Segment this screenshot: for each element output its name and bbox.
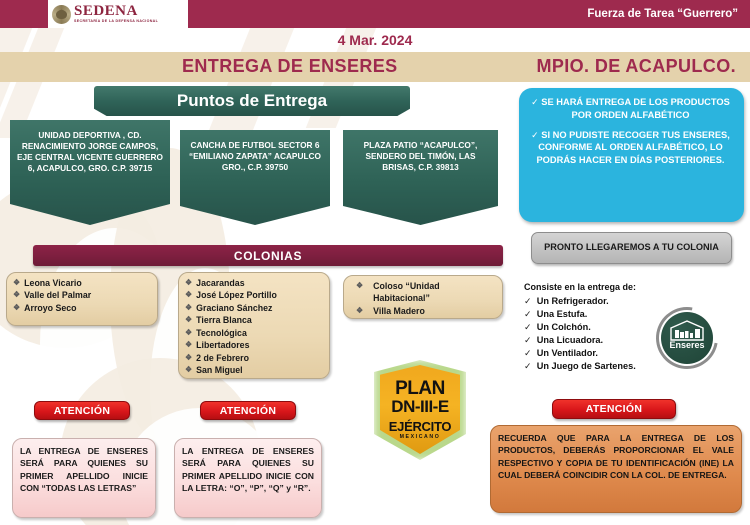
enseres-item: Un Ventilador. — [537, 347, 598, 360]
list-item: ❖Valle del Palmar — [13, 289, 151, 301]
colonia-name: José López Portillo — [196, 289, 277, 301]
colonias-column-3: ❖Coloso “Unidad Habitacional” ❖Villa Mad… — [343, 275, 503, 319]
enseres-item: Una Licuadora. — [537, 334, 603, 347]
colonia-name: Tecnológica — [196, 327, 247, 339]
emblem-line-1: PLAN — [395, 379, 445, 398]
colonia-name: Arroyo Seco — [24, 302, 76, 314]
list-item: ❖Tierra Blanca — [185, 314, 323, 326]
colonia-name: 2 de Febrero — [196, 352, 249, 364]
warning-body-3: RECUERDA QUE PARA LA ENTREGA DE LOS PROD… — [490, 425, 742, 513]
colonias-column-2: ❖Jacarandas ❖José López Portillo ❖Gracia… — [178, 272, 330, 379]
enseres-item: Un Colchón. — [537, 321, 591, 334]
diamond-bullet-icon: ❖ — [185, 314, 192, 326]
warning-tag-2: ATENCIÓN — [200, 401, 296, 420]
diamond-bullet-icon: ❖ — [185, 339, 192, 351]
emblem-line-4: MEXICANO — [400, 434, 441, 440]
enseres-item: Un Juego de Sartenes. — [537, 360, 636, 373]
colonia-name: Libertadores — [196, 339, 249, 351]
delivery-points-header: Puntos de Entrega — [94, 86, 410, 116]
list-item: ❖Arroyo Seco — [13, 302, 151, 314]
list-item: ❖Graciano Sánchez — [185, 302, 323, 314]
diamond-bullet-icon: ❖ — [185, 352, 192, 364]
list-item: ❖Villa Madero — [356, 305, 496, 317]
date-label: 4 Mar. 2024 — [0, 32, 750, 48]
warning-body-1: LA ENTREGA DE ENSERES SERÁ PARA QUIENES … — [12, 438, 156, 518]
diamond-bullet-icon: ❖ — [185, 364, 192, 376]
title-band: ENTREGA DE ENSERES MPIO. DE ACAPULCO. — [0, 52, 750, 82]
colonia-name: Coloso “Unidad Habitacional” — [373, 280, 496, 305]
list-item: ❖José López Portillo — [185, 289, 323, 301]
page-title: ENTREGA DE ENSERES — [182, 56, 398, 77]
colonias-header: COLONIAS — [33, 245, 503, 266]
colonia-name: Leona Vicario — [24, 277, 82, 289]
check-icon: ✓ — [531, 130, 539, 140]
emblem-line-3: EJÉRCITO — [389, 420, 451, 433]
notice-item-2-text: SI NO PUDISTE RECOGER TUS ENSERES, CONFO… — [536, 130, 729, 165]
enseres-badge: Enseres — [656, 307, 718, 369]
warning-tag-3: ATENCIÓN — [552, 399, 676, 419]
diamond-bullet-icon: ❖ — [356, 280, 363, 305]
alphabetical-order-notice: ✓ SE HARÁ ENTREGA DE LOS PRODUCTOS POR O… — [519, 88, 744, 222]
warning-body-2: LA ENTREGA DE ENSERES SERÁ PARA QUIENES … — [174, 438, 322, 518]
list-item: ❖Coloso “Unidad Habitacional” — [356, 280, 496, 305]
notice-item-1: ✓ SE HARÁ ENTREGA DE LOS PRODUCTOS POR O… — [527, 96, 734, 121]
enseres-item: Una Estufa. — [537, 308, 588, 321]
colonia-name: San Miguel — [196, 364, 242, 376]
diamond-bullet-icon: ❖ — [185, 289, 192, 301]
check-icon: ✓ — [524, 308, 532, 321]
colonia-name: Jacarandas — [196, 277, 244, 289]
colonia-name: Villa Madero — [373, 305, 425, 317]
list-item: ❖Leona Vicario — [13, 277, 151, 289]
colonia-name: Valle del Palmar — [24, 289, 91, 301]
notice-item-1-text: SE HARÁ ENTREGA DE LOS PRODUCTOS POR ORD… — [541, 97, 730, 120]
list-item: ❖San Miguel — [185, 364, 323, 376]
municipality-title: MPIO. DE ACAPULCO. — [536, 56, 736, 77]
delivery-point-3-text: PLAZA PATIO “ACAPULCO”, SENDERO DEL TIMÓ… — [350, 140, 491, 173]
check-icon: ✓ — [524, 321, 532, 334]
delivery-point-2: CANCHA DE FUTBOL SECTOR 6 “EMILIANO ZAPA… — [180, 130, 330, 225]
list-item: ❖Libertadores — [185, 339, 323, 351]
diamond-bullet-icon: ❖ — [13, 289, 20, 301]
check-icon: ✓ — [524, 347, 532, 360]
enseres-item: Un Refrigerador. — [537, 295, 609, 308]
check-icon: ✓ — [524, 295, 532, 308]
diamond-bullet-icon: ❖ — [356, 305, 363, 317]
enseres-badge-label: Enseres — [656, 340, 718, 350]
list-item: ❖2 de Febrero — [185, 352, 323, 364]
diamond-bullet-icon: ❖ — [185, 327, 192, 339]
org-name: SEDENA — [74, 4, 158, 19]
appliances-house-icon — [669, 319, 705, 341]
delivery-point-3: PLAZA PATIO “ACAPULCO”, SENDERO DEL TIMÓ… — [343, 130, 498, 225]
warning-tag-1: ATENCIÓN — [34, 401, 130, 420]
list-item: ❖Jacarandas — [185, 277, 323, 289]
colonias-column-1: ❖Leona Vicario ❖Valle del Palmar ❖Arroyo… — [6, 272, 158, 326]
check-icon: ✓ — [524, 360, 532, 373]
coming-soon-banner: PRONTO LLEGAREMOS A TU COLONIA — [531, 232, 732, 264]
list-item: ❖Tecnológica — [185, 327, 323, 339]
task-force-label: Fuerza de Tarea “Guerrero” — [587, 0, 738, 28]
diamond-bullet-icon: ❖ — [13, 277, 20, 289]
check-icon: ✓ — [524, 334, 532, 347]
diamond-bullet-icon: ❖ — [185, 302, 192, 314]
diamond-bullet-icon: ❖ — [185, 277, 192, 289]
colonia-name: Tierra Blanca — [196, 314, 252, 326]
diamond-bullet-icon: ❖ — [13, 302, 20, 314]
notice-item-2: ✓ SI NO PUDISTE RECOGER TUS ENSERES, CON… — [527, 129, 734, 166]
plan-dn-iii-e-emblem: PLAN DN-III-E EJÉRCITO MEXICANO — [374, 360, 466, 460]
delivery-point-2-text: CANCHA DE FUTBOL SECTOR 6 “EMILIANO ZAPA… — [187, 140, 323, 173]
enseres-heading: Consiste en la entrega de: — [524, 282, 694, 292]
sedena-logo: SEDENA SECRETARÍA DE LA DEFENSA NACIONAL — [48, 0, 188, 28]
mexican-eagle-icon — [52, 5, 71, 24]
delivery-point-1: UNIDAD DEPORTIVA , CD. RENACIMIENTO JORG… — [10, 120, 170, 225]
colonia-name: Graciano Sánchez — [196, 302, 272, 314]
emblem-line-2: DN-III-E — [391, 398, 448, 417]
check-icon: ✓ — [531, 97, 539, 107]
org-subtitle: SECRETARÍA DE LA DEFENSA NACIONAL — [74, 20, 158, 24]
top-bar: SEDENA SECRETARÍA DE LA DEFENSA NACIONAL… — [0, 0, 750, 28]
delivery-point-1-text: UNIDAD DEPORTIVA , CD. RENACIMIENTO JORG… — [17, 130, 163, 174]
